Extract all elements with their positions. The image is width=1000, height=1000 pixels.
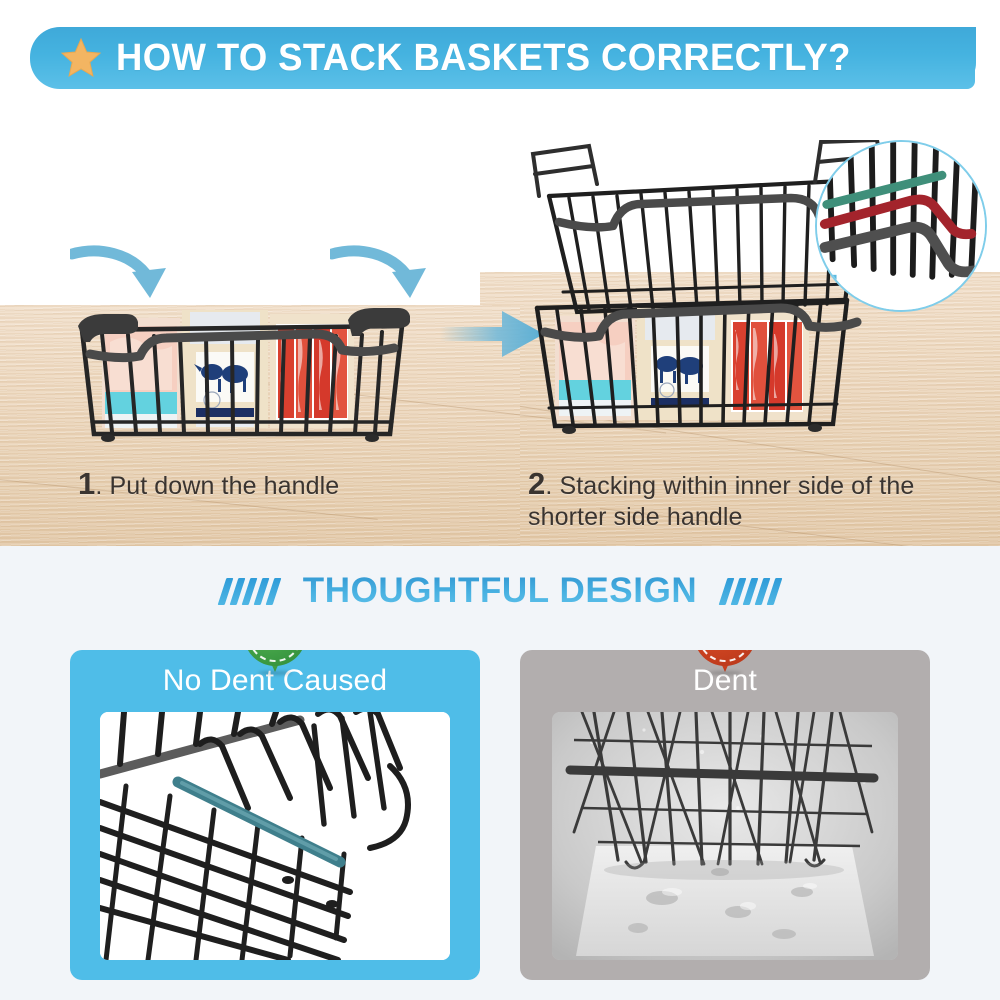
tick-marks-right-icon bbox=[723, 578, 778, 605]
step-2-text: Stacking within inner side of the shorte… bbox=[528, 472, 914, 531]
check-badge bbox=[244, 650, 306, 666]
panel-no-dent: No Dent Caused bbox=[70, 650, 480, 980]
step-2-caption: 2. Stacking within inner side of the sho… bbox=[528, 468, 968, 533]
photo-basket-support-bar bbox=[100, 712, 450, 960]
magnified-handle-detail bbox=[815, 140, 987, 312]
star-icon bbox=[60, 37, 102, 79]
header-title: HOW TO STACK BASKETS CORRECTLY? bbox=[116, 37, 851, 80]
top-section: HOW TO STACK BASKETS CORRECTLY? bbox=[0, 0, 1000, 546]
curved-down-arrow-right bbox=[330, 238, 440, 300]
step-2-number: 2 bbox=[528, 466, 545, 501]
basket-scene-single bbox=[72, 296, 417, 448]
cross-icon bbox=[709, 650, 741, 654]
step-1-separator: . bbox=[95, 472, 102, 500]
cross-badge bbox=[694, 650, 756, 666]
photo-freezer-dent bbox=[552, 712, 898, 960]
tick-marks-left-icon bbox=[222, 578, 277, 605]
header-banner: HOW TO STACK BASKETS CORRECTLY? bbox=[30, 27, 975, 89]
step-1-caption: 1. Put down the handle bbox=[78, 468, 339, 502]
step-1-text: Put down the handle bbox=[109, 472, 339, 500]
panel-dent: Dent bbox=[520, 650, 930, 980]
design-title-row: THOUGHTFUL DESIGN bbox=[0, 566, 1000, 616]
bottom-section: THOUGHTFUL DESIGN No Dent Caused bbox=[0, 546, 1000, 1000]
step-2-separator: . bbox=[545, 472, 552, 500]
step-1-number: 1 bbox=[78, 466, 95, 501]
design-title: THOUGHTFUL DESIGN bbox=[303, 571, 698, 611]
check-icon bbox=[258, 650, 292, 655]
curved-down-arrow-left bbox=[70, 238, 180, 300]
